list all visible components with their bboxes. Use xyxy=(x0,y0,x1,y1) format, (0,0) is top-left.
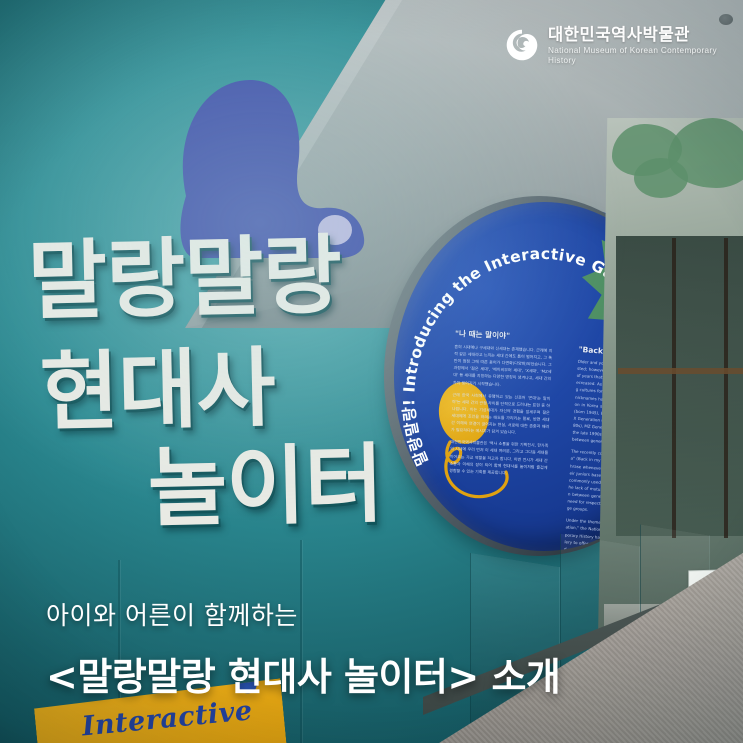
korean-paragraph: 대한민국역사박물관은 '역사 소통을 위한 기획전시, 한가족의 시대에 우리 … xyxy=(449,438,548,478)
korean-paragraph: 근래 한국 사회에서 유행하고 있는 신조어 '꼰대'는 말이야'는 세대 간의… xyxy=(451,391,551,438)
tree-decal xyxy=(634,158,688,198)
photo-scene: 말랑말랑 현대사 놀이터 말랑말랑! Introducing the Inter… xyxy=(0,0,743,743)
logo-text-block: 대한민국역사박물관 National Museum of Korean Cont… xyxy=(548,26,743,65)
museum-name-en: National Museum of Korean Contemporary H… xyxy=(548,46,743,64)
caption-subtitle: 아이와 어른이 함께하는 xyxy=(46,596,560,632)
museum-name-ko: 대한민국역사박물관 xyxy=(548,26,743,44)
window-mullion xyxy=(672,238,676,538)
wall-sign-line-1: 말랑말랑 xyxy=(27,237,342,323)
korean-paragraph: 흔히 시대에나 구세대와 신세대는 존재했습니다. 근래에 지적 같은 세대라고… xyxy=(453,343,553,390)
wall-sign-line-2: 현대사 xyxy=(39,350,275,434)
panel-korean-column: "나 때는 말이야" 흔히 시대에나 구세대와 신세대는 존재했습니다. 근래에… xyxy=(449,328,553,483)
overlay-caption: 아이와 어른이 함께하는 <말랑말랑 현대사 놀이터> 소개 xyxy=(46,596,560,701)
taegeuk-spiral-logo-icon xyxy=(505,28,539,62)
ceiling-fixture-icon xyxy=(719,14,733,25)
caption-title: <말랑말랑 현대사 놀이터> 소개 xyxy=(46,646,560,701)
window-mullion xyxy=(724,238,728,538)
window-rail xyxy=(618,368,743,374)
wall-sign-line-3: 놀이터 xyxy=(147,446,383,530)
museum-logo: 대한민국역사박물관 National Museum of Korean Cont… xyxy=(505,26,743,65)
